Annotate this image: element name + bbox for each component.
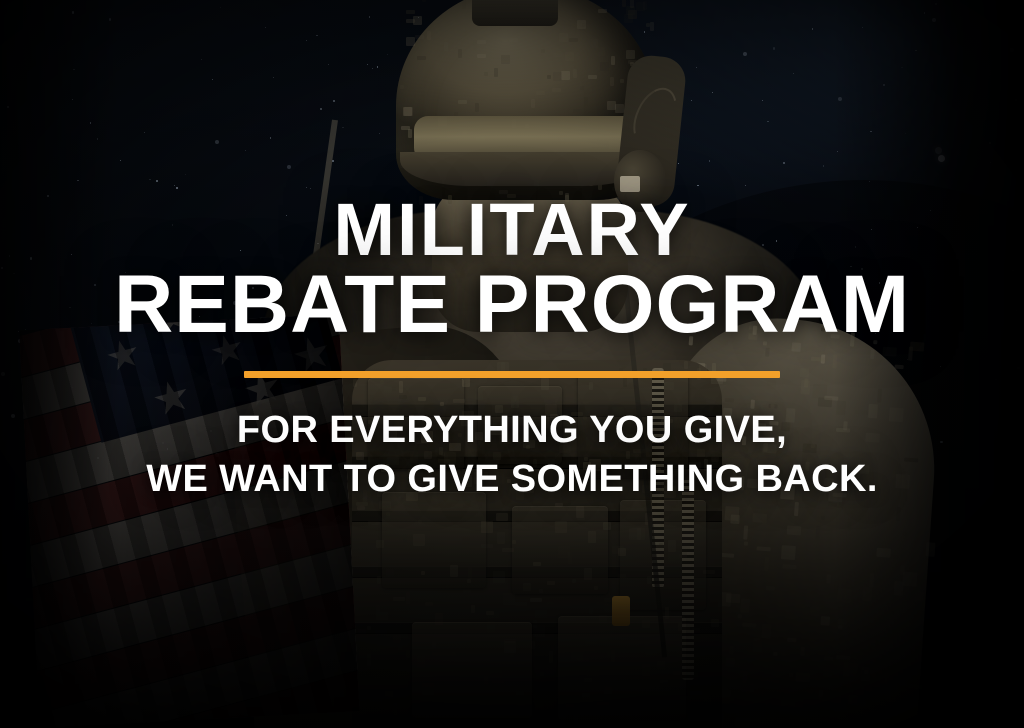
subheadline-line-2: WE WANT TO GIVE SOMETHING BACK.: [146, 457, 878, 502]
banner-content: MILITARY REBATE PROGRAM FOR EVERYTHING Y…: [0, 0, 1024, 728]
headline-line-2: REBATE PROGRAM: [114, 267, 910, 343]
orange-divider-rule: [244, 371, 780, 378]
military-rebate-banner: ★★★★★★★ MILITARY REBATE PROGRAM FOR EVER…: [0, 0, 1024, 728]
headline-line-1: MILITARY: [333, 196, 690, 265]
subheadline-line-1: FOR EVERYTHING YOU GIVE,: [237, 408, 787, 453]
